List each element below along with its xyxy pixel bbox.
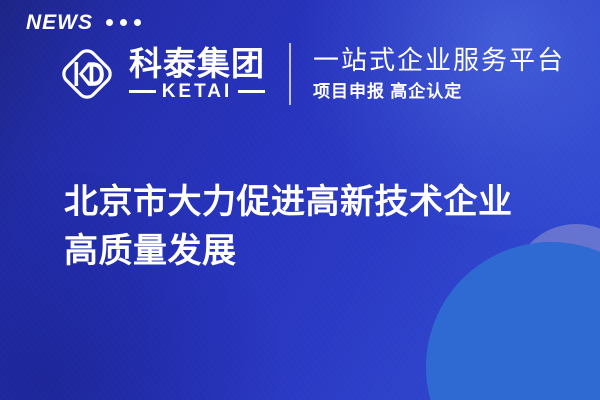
- headline: 北京市大力促进高新技术企业高质量发展: [64, 178, 544, 277]
- brand-lockup: 科泰集团 KETAI 一站式企业服务平台 项目申报 高企认定: [55, 42, 565, 106]
- news-eyebrow: NEWS: [26, 12, 141, 33]
- wordmark-rule-left: [129, 90, 156, 93]
- brand-logo: 科泰集团 KETAI: [55, 42, 265, 106]
- brand-name-en: KETAI: [162, 82, 233, 101]
- eyebrow-dot-icon: [106, 19, 113, 26]
- tagline-primary: 一站式企业服务平台: [313, 46, 565, 77]
- news-eyebrow-label: NEWS: [26, 12, 93, 33]
- brand-tagline: 一站式企业服务平台 项目申报 高企认定: [313, 46, 565, 102]
- brand-wordmark: 科泰集团 KETAI: [129, 47, 265, 102]
- news-banner: NEWS: [0, 0, 600, 400]
- lockup-divider: [289, 43, 291, 105]
- brand-name-cn: 科泰集团: [129, 47, 265, 82]
- eyebrow-dot-icon: [120, 19, 127, 26]
- banner-content: NEWS: [0, 0, 600, 400]
- brand-name-en-row: KETAI: [129, 82, 265, 101]
- ketai-kd-monogram-icon: [55, 42, 119, 106]
- wordmark-rule-right: [238, 90, 265, 93]
- tagline-secondary: 项目申报 高企认定: [313, 82, 565, 102]
- eyebrow-dot-icon: [134, 19, 141, 26]
- eyebrow-dots-icon: [106, 19, 141, 27]
